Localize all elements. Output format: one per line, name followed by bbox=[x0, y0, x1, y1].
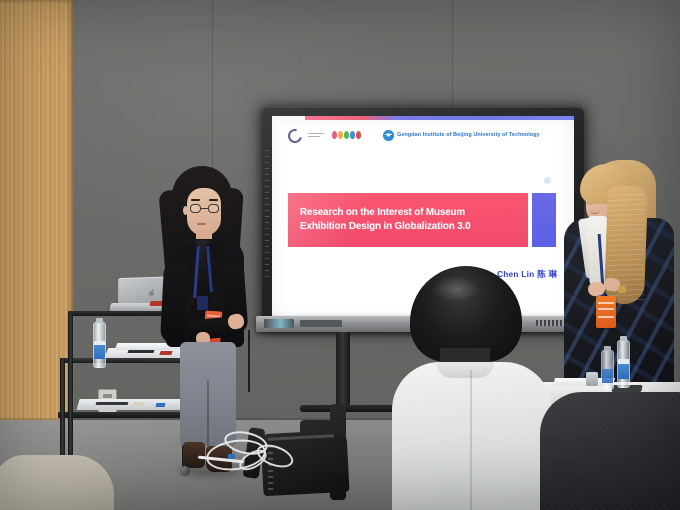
bottle-cap bbox=[96, 318, 103, 323]
slide-title-line2: Exhibition Design in Globalization 3.0 bbox=[300, 220, 528, 234]
eyebrow bbox=[191, 199, 200, 201]
mouth bbox=[197, 223, 206, 225]
name-badge bbox=[197, 296, 208, 310]
institute-name: Gengdan Institute of Beijing University … bbox=[397, 132, 540, 138]
slide-title-line1: Research on the Interest of Museum bbox=[300, 206, 528, 220]
slide-title-row: Research on the Interest of Museum Exhib… bbox=[288, 193, 556, 247]
ear bbox=[183, 206, 188, 215]
bottle-cap bbox=[604, 346, 611, 351]
presentation-photo-scene: Gengdan Institute of Beijing University … bbox=[0, 0, 680, 510]
water-bottle bbox=[617, 340, 630, 388]
trouser-seam bbox=[207, 380, 209, 446]
cumulus-logo-icon bbox=[287, 128, 301, 142]
cmyk-swatch-logo-icon bbox=[331, 130, 362, 140]
slide-title-block: Research on the Interest of Museum Exhib… bbox=[288, 193, 528, 247]
bezel-sensor-strip bbox=[265, 150, 269, 280]
bottle-label bbox=[94, 343, 105, 359]
wristwatch-icon bbox=[618, 286, 626, 293]
gengdan-mark-icon bbox=[383, 130, 394, 141]
shirt-seam bbox=[470, 370, 472, 510]
bottle-label bbox=[602, 369, 613, 383]
slide-title-accent bbox=[532, 193, 556, 247]
cumulus-logo-wordmark bbox=[308, 133, 324, 138]
gengdan-institute-logo: Gengdan Institute of Beijing University … bbox=[383, 130, 540, 141]
bottle-label-band bbox=[618, 359, 629, 364]
bottle-label-band bbox=[94, 341, 105, 345]
display-slot bbox=[300, 320, 342, 327]
seated-attendee-center bbox=[392, 266, 552, 510]
white-shirt bbox=[392, 362, 552, 510]
cable-connector bbox=[228, 454, 235, 459]
slide-header: Gengdan Institute of Beijing University … bbox=[287, 127, 562, 143]
bottle-label bbox=[618, 362, 629, 379]
eyebrow bbox=[209, 199, 218, 201]
table-object bbox=[586, 372, 598, 386]
document-marking-light bbox=[132, 402, 144, 406]
display-stand-left bbox=[336, 332, 350, 410]
slide-topbar bbox=[305, 116, 574, 120]
seated-attendee-right bbox=[540, 392, 680, 510]
bottle-cap bbox=[620, 336, 627, 341]
arm bbox=[160, 261, 188, 344]
shirt-collar bbox=[436, 362, 494, 378]
conference-badge bbox=[596, 296, 616, 328]
jacket-texture bbox=[540, 392, 680, 510]
water-bottle bbox=[93, 322, 106, 368]
glasses-icon bbox=[190, 204, 220, 213]
seated-attendee-left bbox=[0, 455, 114, 510]
decorative-dot-icon bbox=[544, 177, 551, 184]
hair-highlight bbox=[432, 276, 480, 302]
document-marking bbox=[96, 402, 129, 405]
display-control-left[interactable] bbox=[264, 319, 294, 328]
water-bottle bbox=[601, 350, 614, 390]
